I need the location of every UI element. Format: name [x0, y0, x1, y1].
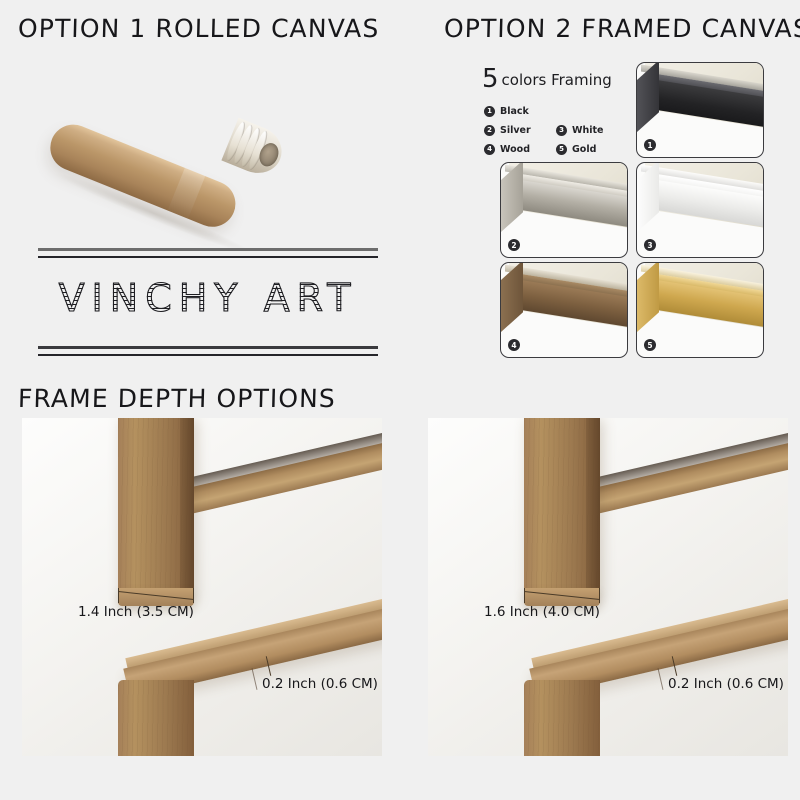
logo-rule-top — [38, 248, 378, 258]
frame-leg-lower-block — [524, 680, 600, 756]
caliper-tick-left — [118, 588, 119, 603]
frame-leg-inner-face — [586, 418, 600, 596]
frame-return — [500, 262, 523, 334]
frame-depth-header: FRAME DEPTH OPTIONS — [18, 384, 337, 413]
swatch-badge-3: 3 — [644, 239, 656, 251]
frame-swatch-silver[interactable]: 2 — [500, 162, 628, 258]
frame-swatch-gold[interactable]: 5 — [636, 262, 764, 358]
option-1-header: OPTION 1 ROLLED CANVAS — [18, 14, 380, 43]
depth-caliper — [116, 586, 196, 606]
depth-dimension-label: 1.4 Inch (3.5 CM) — [78, 604, 194, 620]
option-2-header: OPTION 2 FRAMED CANVAS — [444, 14, 800, 43]
swatch-badge-1: 1 — [644, 139, 656, 151]
frame-swatch-grid: 1 2 3 — [484, 58, 790, 363]
depth-caliper — [522, 586, 602, 606]
frame-return — [500, 162, 523, 234]
frame-leg-lower-block — [118, 680, 194, 756]
logo-rule-thin — [38, 256, 378, 258]
frame-seam-mark — [252, 668, 258, 690]
rolled-canvas-end — [221, 118, 288, 181]
frame-swatch-wood[interactable]: 4 — [500, 262, 628, 358]
caliper-tick-right — [193, 588, 194, 603]
caliper-tick-left — [524, 588, 525, 603]
logo-rule-thin — [38, 354, 378, 356]
logo-rule-bottom — [38, 346, 378, 356]
frame-leg-inner-face — [180, 418, 194, 596]
logo-rule-thick — [38, 346, 378, 349]
frame-depth-photo-right: 1.6 Inch (4.0 CM) 0.2 Inch (0.6 CM) — [428, 418, 788, 756]
frame-return — [636, 62, 659, 134]
caliper-line — [118, 591, 194, 600]
caliper-line — [524, 591, 600, 600]
frame-swatch-black[interactable]: 1 — [636, 62, 764, 158]
brand-logo: VINCHY ART — [38, 248, 378, 356]
logo-rule-thick — [38, 248, 378, 251]
thickness-dimension-label: 0.2 Inch (0.6 CM) — [668, 676, 784, 692]
frame-leg-vertical — [118, 418, 194, 596]
frame-return — [636, 262, 659, 334]
frame-seam-mark — [658, 668, 664, 690]
frame-return — [636, 162, 659, 234]
swatch-badge-4: 4 — [508, 339, 520, 351]
brand-wordmark: VINCHY ART — [38, 276, 378, 320]
swatch-badge-2: 2 — [508, 239, 520, 251]
depth-dimension-label: 1.6 Inch (4.0 CM) — [484, 604, 600, 620]
frame-swatch-white[interactable]: 3 — [636, 162, 764, 258]
framing-colors-panel: 5colors Framing 1 Black 2 Silver 3 White… — [470, 58, 790, 363]
rolled-canvas-tube-figure — [44, 62, 296, 198]
frame-leg-vertical — [524, 418, 600, 596]
swatch-badge-5: 5 — [644, 339, 656, 351]
caliper-tick-right — [599, 588, 600, 603]
tube-band — [168, 168, 206, 219]
thickness-dimension-label: 0.2 Inch (0.6 CM) — [262, 676, 378, 692]
frame-depth-photo-left: 1.4 Inch (3.5 CM) 0.2 Inch (0.6 CM) — [22, 418, 382, 756]
